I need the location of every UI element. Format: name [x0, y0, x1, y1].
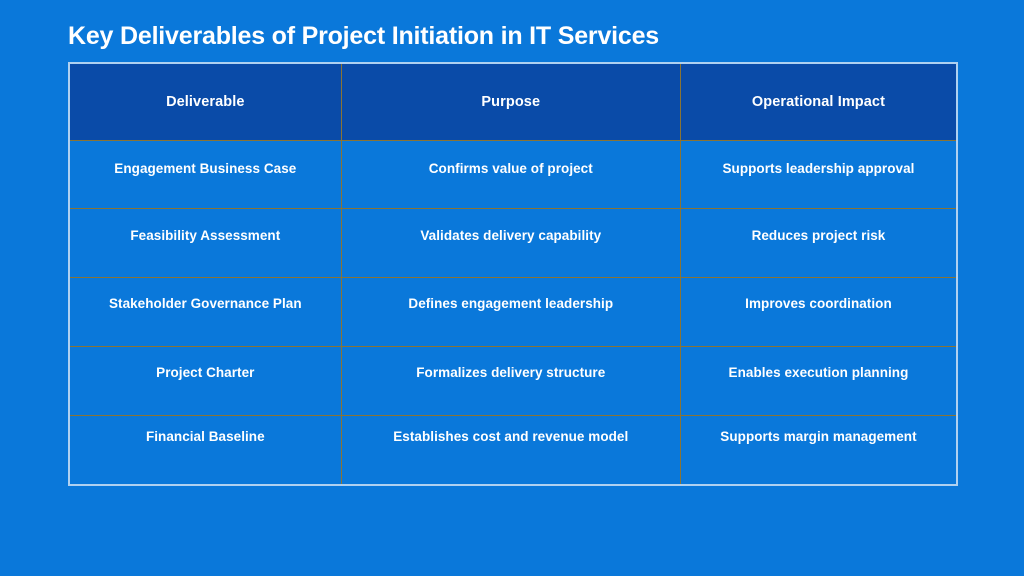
cell-deliverable-text: Feasibility Assessment	[80, 228, 331, 243]
cell-impact: Supports margin management	[680, 415, 956, 484]
cell-impact: Enables execution planning	[680, 346, 956, 415]
table-body: Engagement Business Case Confirms value …	[70, 140, 956, 484]
cell-purpose-text: Formalizes delivery structure	[352, 365, 670, 380]
cell-purpose: Establishes cost and revenue model	[341, 415, 680, 484]
table-row: Project Charter Formalizes delivery stru…	[70, 346, 956, 415]
cell-purpose-text: Establishes cost and revenue model	[352, 429, 670, 444]
cell-deliverable-text: Stakeholder Governance Plan	[80, 296, 331, 311]
cell-purpose-text: Confirms value of project	[352, 161, 670, 176]
cell-deliverable: Engagement Business Case	[70, 140, 341, 209]
cell-impact-text: Reduces project risk	[691, 228, 946, 243]
cell-deliverable-text: Project Charter	[80, 365, 331, 380]
column-header-purpose: Purpose	[341, 64, 680, 140]
column-header-deliverable-label: Deliverable	[80, 94, 331, 110]
cell-deliverable-text: Financial Baseline	[80, 429, 331, 444]
cell-impact-text: Enables execution planning	[691, 365, 946, 380]
cell-impact: Reduces project risk	[680, 209, 956, 278]
cell-impact-text: Supports leadership approval	[691, 161, 946, 176]
table-row: Financial Baseline Establishes cost and …	[70, 415, 956, 484]
deliverables-table-container: Deliverable Purpose Operational Impact E…	[68, 62, 958, 486]
cell-purpose-text: Validates delivery capability	[352, 228, 670, 243]
cell-deliverable: Stakeholder Governance Plan	[70, 278, 341, 347]
slide-canvas: Key Deliverables of Project Initiation i…	[0, 0, 1024, 576]
cell-impact: Supports leadership approval	[680, 140, 956, 209]
column-header-operational-impact: Operational Impact	[680, 64, 956, 140]
deliverables-table: Deliverable Purpose Operational Impact E…	[70, 64, 956, 484]
cell-deliverable-text: Engagement Business Case	[80, 161, 331, 176]
cell-deliverable: Financial Baseline	[70, 415, 341, 484]
table-row: Stakeholder Governance Plan Defines enga…	[70, 278, 956, 347]
cell-purpose: Confirms value of project	[341, 140, 680, 209]
cell-purpose: Defines engagement leadership	[341, 278, 680, 347]
column-header-purpose-label: Purpose	[352, 94, 670, 110]
page-title: Key Deliverables of Project Initiation i…	[68, 20, 968, 52]
column-header-deliverable: Deliverable	[70, 64, 341, 140]
table-row: Engagement Business Case Confirms value …	[70, 140, 956, 209]
cell-purpose: Validates delivery capability	[341, 209, 680, 278]
cell-impact-text: Improves coordination	[691, 296, 946, 311]
table-header: Deliverable Purpose Operational Impact	[70, 64, 956, 140]
table-header-row: Deliverable Purpose Operational Impact	[70, 64, 956, 140]
cell-deliverable: Project Charter	[70, 346, 341, 415]
cell-deliverable: Feasibility Assessment	[70, 209, 341, 278]
column-header-operational-impact-label: Operational Impact	[691, 94, 946, 110]
cell-impact-text: Supports margin management	[691, 429, 946, 444]
table-row: Feasibility Assessment Validates deliver…	[70, 209, 956, 278]
cell-purpose-text: Defines engagement leadership	[352, 296, 670, 311]
cell-impact: Improves coordination	[680, 278, 956, 347]
cell-purpose: Formalizes delivery structure	[341, 346, 680, 415]
